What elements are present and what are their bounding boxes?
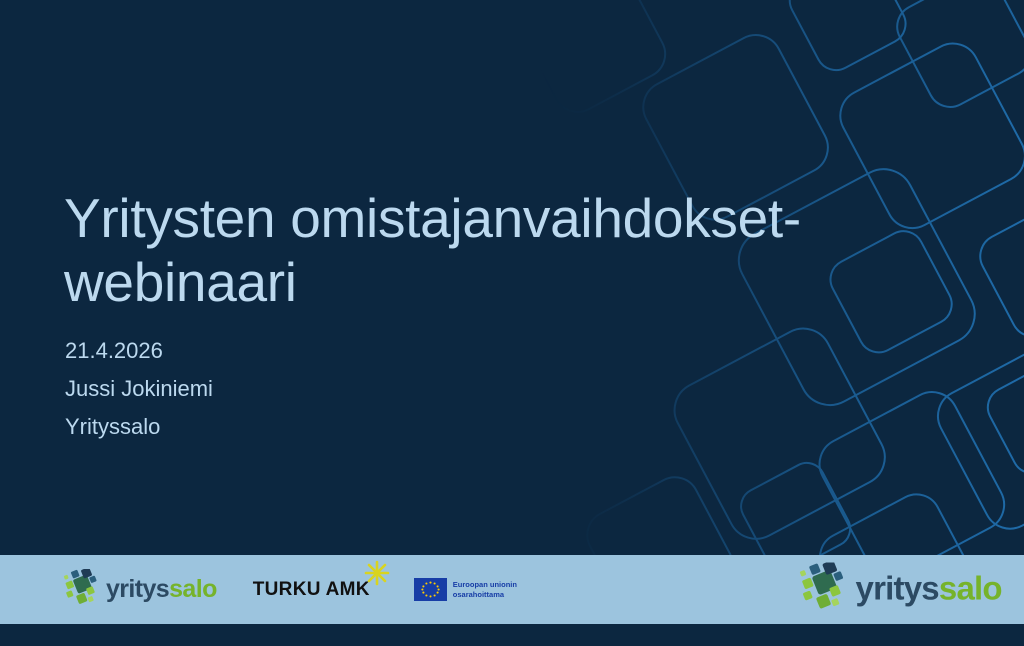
eu-flag-icon: [414, 578, 447, 601]
eu-funding-logo: Euroopan unionin osarahoittama: [414, 578, 517, 601]
page-title: Yritysten omistajanvaihdokset- webinaari: [64, 186, 894, 315]
footer-logos-left: yrityssalo TURKU AMK: [0, 569, 517, 610]
eu-funding-text: Euroopan unionin osarahoittama: [453, 580, 517, 600]
footer-bottom-strip: [0, 624, 1024, 646]
subtitle-block: 21.4.2026 Jussi Jokiniemi Yrityssalo: [65, 338, 213, 440]
title-block: Yritysten omistajanvaihdokset- webinaari: [64, 186, 894, 315]
yrityssalo-logo-right: yrityssalo: [799, 562, 1002, 616]
yrityssalo-squares-icon: [799, 562, 849, 616]
organization-name: Yrityssalo: [65, 414, 213, 441]
yrityssalo-wordmark-right: yrityssalo: [856, 573, 1002, 606]
turku-amk-logo: TURKU AMK: [253, 580, 370, 599]
presentation-date: 21.4.2026: [65, 338, 213, 365]
yrityssalo-squares-icon: [63, 569, 101, 610]
presenter-name: Jussi Jokiniemi: [65, 376, 213, 403]
presentation-slide: Yritysten omistajanvaihdokset- webinaari…: [0, 0, 1024, 646]
yrityssalo-wordmark-part1: yritys: [106, 575, 169, 603]
yrityssalo-wordmark-part1: yritys: [856, 570, 939, 607]
background-circuit-pattern: [0, 0, 1024, 646]
yrityssalo-logo-left: yrityssalo: [63, 569, 217, 610]
footer-logos-right: yrityssalo: [848, 569, 1024, 610]
turku-amk-star-icon: [364, 560, 390, 586]
yrityssalo-wordmark-part2: salo: [939, 570, 1002, 607]
yrityssalo-wordmark-part2: salo: [169, 575, 217, 603]
yrityssalo-wordmark-left: yrityssalo: [106, 577, 217, 602]
turku-amk-wordmark: TURKU AMK: [253, 580, 370, 599]
footer-logo-bar: yrityssalo TURKU AMK: [0, 555, 1024, 624]
